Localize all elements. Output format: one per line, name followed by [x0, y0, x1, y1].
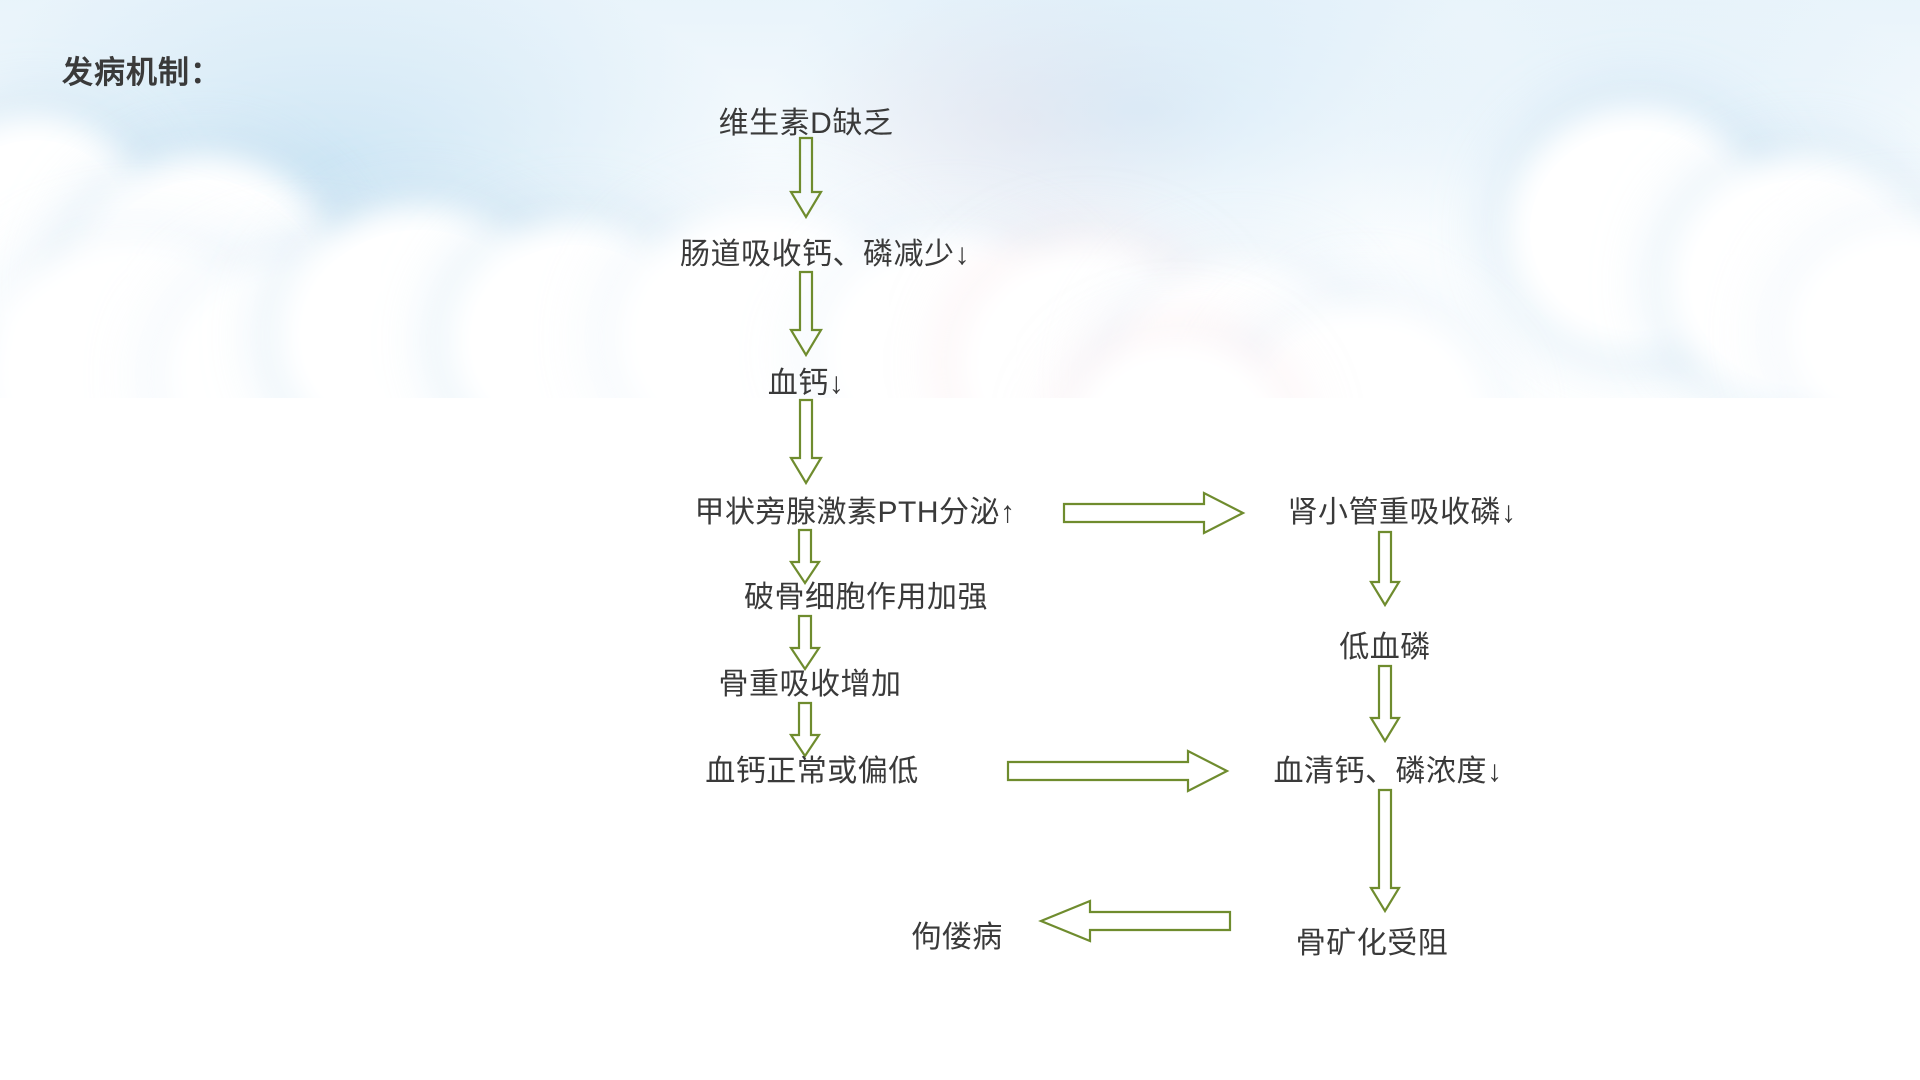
flow-node-serum-calcium-down: 血钙↓: [768, 369, 845, 399]
flow-node-rickets: 佝偻病: [911, 923, 1003, 953]
arrow-down-serumca-to-pth: [790, 400, 822, 484]
flow-node-bone-resorption-up: 骨重吸收增加: [719, 670, 902, 700]
flow-node-serum-ca-p-down: 血清钙、磷浓度↓: [1274, 757, 1503, 787]
cloud-puff: [1530, 130, 1745, 330]
arrow-down-intestine-to-serumca: [790, 272, 822, 356]
flow-node-tubular-phosphate-down: 肾小管重吸收磷↓: [1288, 498, 1517, 528]
cloud-puff: [1140, 290, 1340, 465]
flow-node-hypophosphatemia: 低血磷: [1339, 633, 1431, 663]
flow-node-intestinal-absorption-down: 肠道吸收钙、磷减少↓: [680, 240, 970, 270]
flow-node-impaired-mineralization: 骨矿化受阻: [1296, 929, 1449, 959]
flow-node-vitamin-d-deficiency: 维生素D缺乏: [719, 109, 894, 139]
slide-canvas: 发病机制：: [0, 0, 1920, 1080]
cloud-background: [0, 0, 1920, 1080]
page-title: 发病机制：: [62, 47, 222, 92]
sky-gradient: [0, 0, 1920, 420]
flow-node-calcium-normal-or-low: 血钙正常或偏低: [705, 757, 919, 787]
cloud-puff: [1090, 360, 1265, 510]
flow-node-pth-secretion-up: 甲状旁腺激素PTH分泌↑: [695, 498, 1016, 528]
flow-node-osteoclast-activity-up: 破骨细胞作用加强: [744, 583, 988, 613]
arrow-down-resorption-to-normalca: [790, 703, 820, 757]
cloud-puff: [0, 140, 130, 320]
cloud-puff: [1265, 330, 1465, 505]
arrow-left-mineralization-to-rickets: [1040, 900, 1230, 942]
cloud-puff: [190, 280, 420, 470]
arrow-down-pth-to-osteoclast: [790, 530, 820, 584]
cloud-puff: [470, 245, 680, 435]
arrow-down-osteoclast-to-resorption: [790, 616, 820, 670]
cloud-puff: [300, 230, 540, 440]
cloud-puff: [1810, 250, 1920, 415]
arrow-down-tubule-to-hypophosphatemia: [1370, 532, 1400, 606]
cloud-puff: [10, 265, 260, 465]
cloud-puff: [980, 268, 1195, 458]
arrow-down-hypophosphatemia-to-serumcaph: [1370, 666, 1400, 742]
arrow-right-normalca-to-serumcaph: [1008, 750, 1228, 792]
cloud-puff: [845, 262, 1060, 442]
cloud-puff: [90, 180, 320, 395]
arrow-right-pth-to-tubule: [1064, 492, 1244, 534]
arrow-down-serumcaph-to-mineralization: [1370, 790, 1400, 912]
arrow-down-vitd-to-intestine: [790, 138, 822, 218]
cloud-puff: [1690, 180, 1915, 385]
